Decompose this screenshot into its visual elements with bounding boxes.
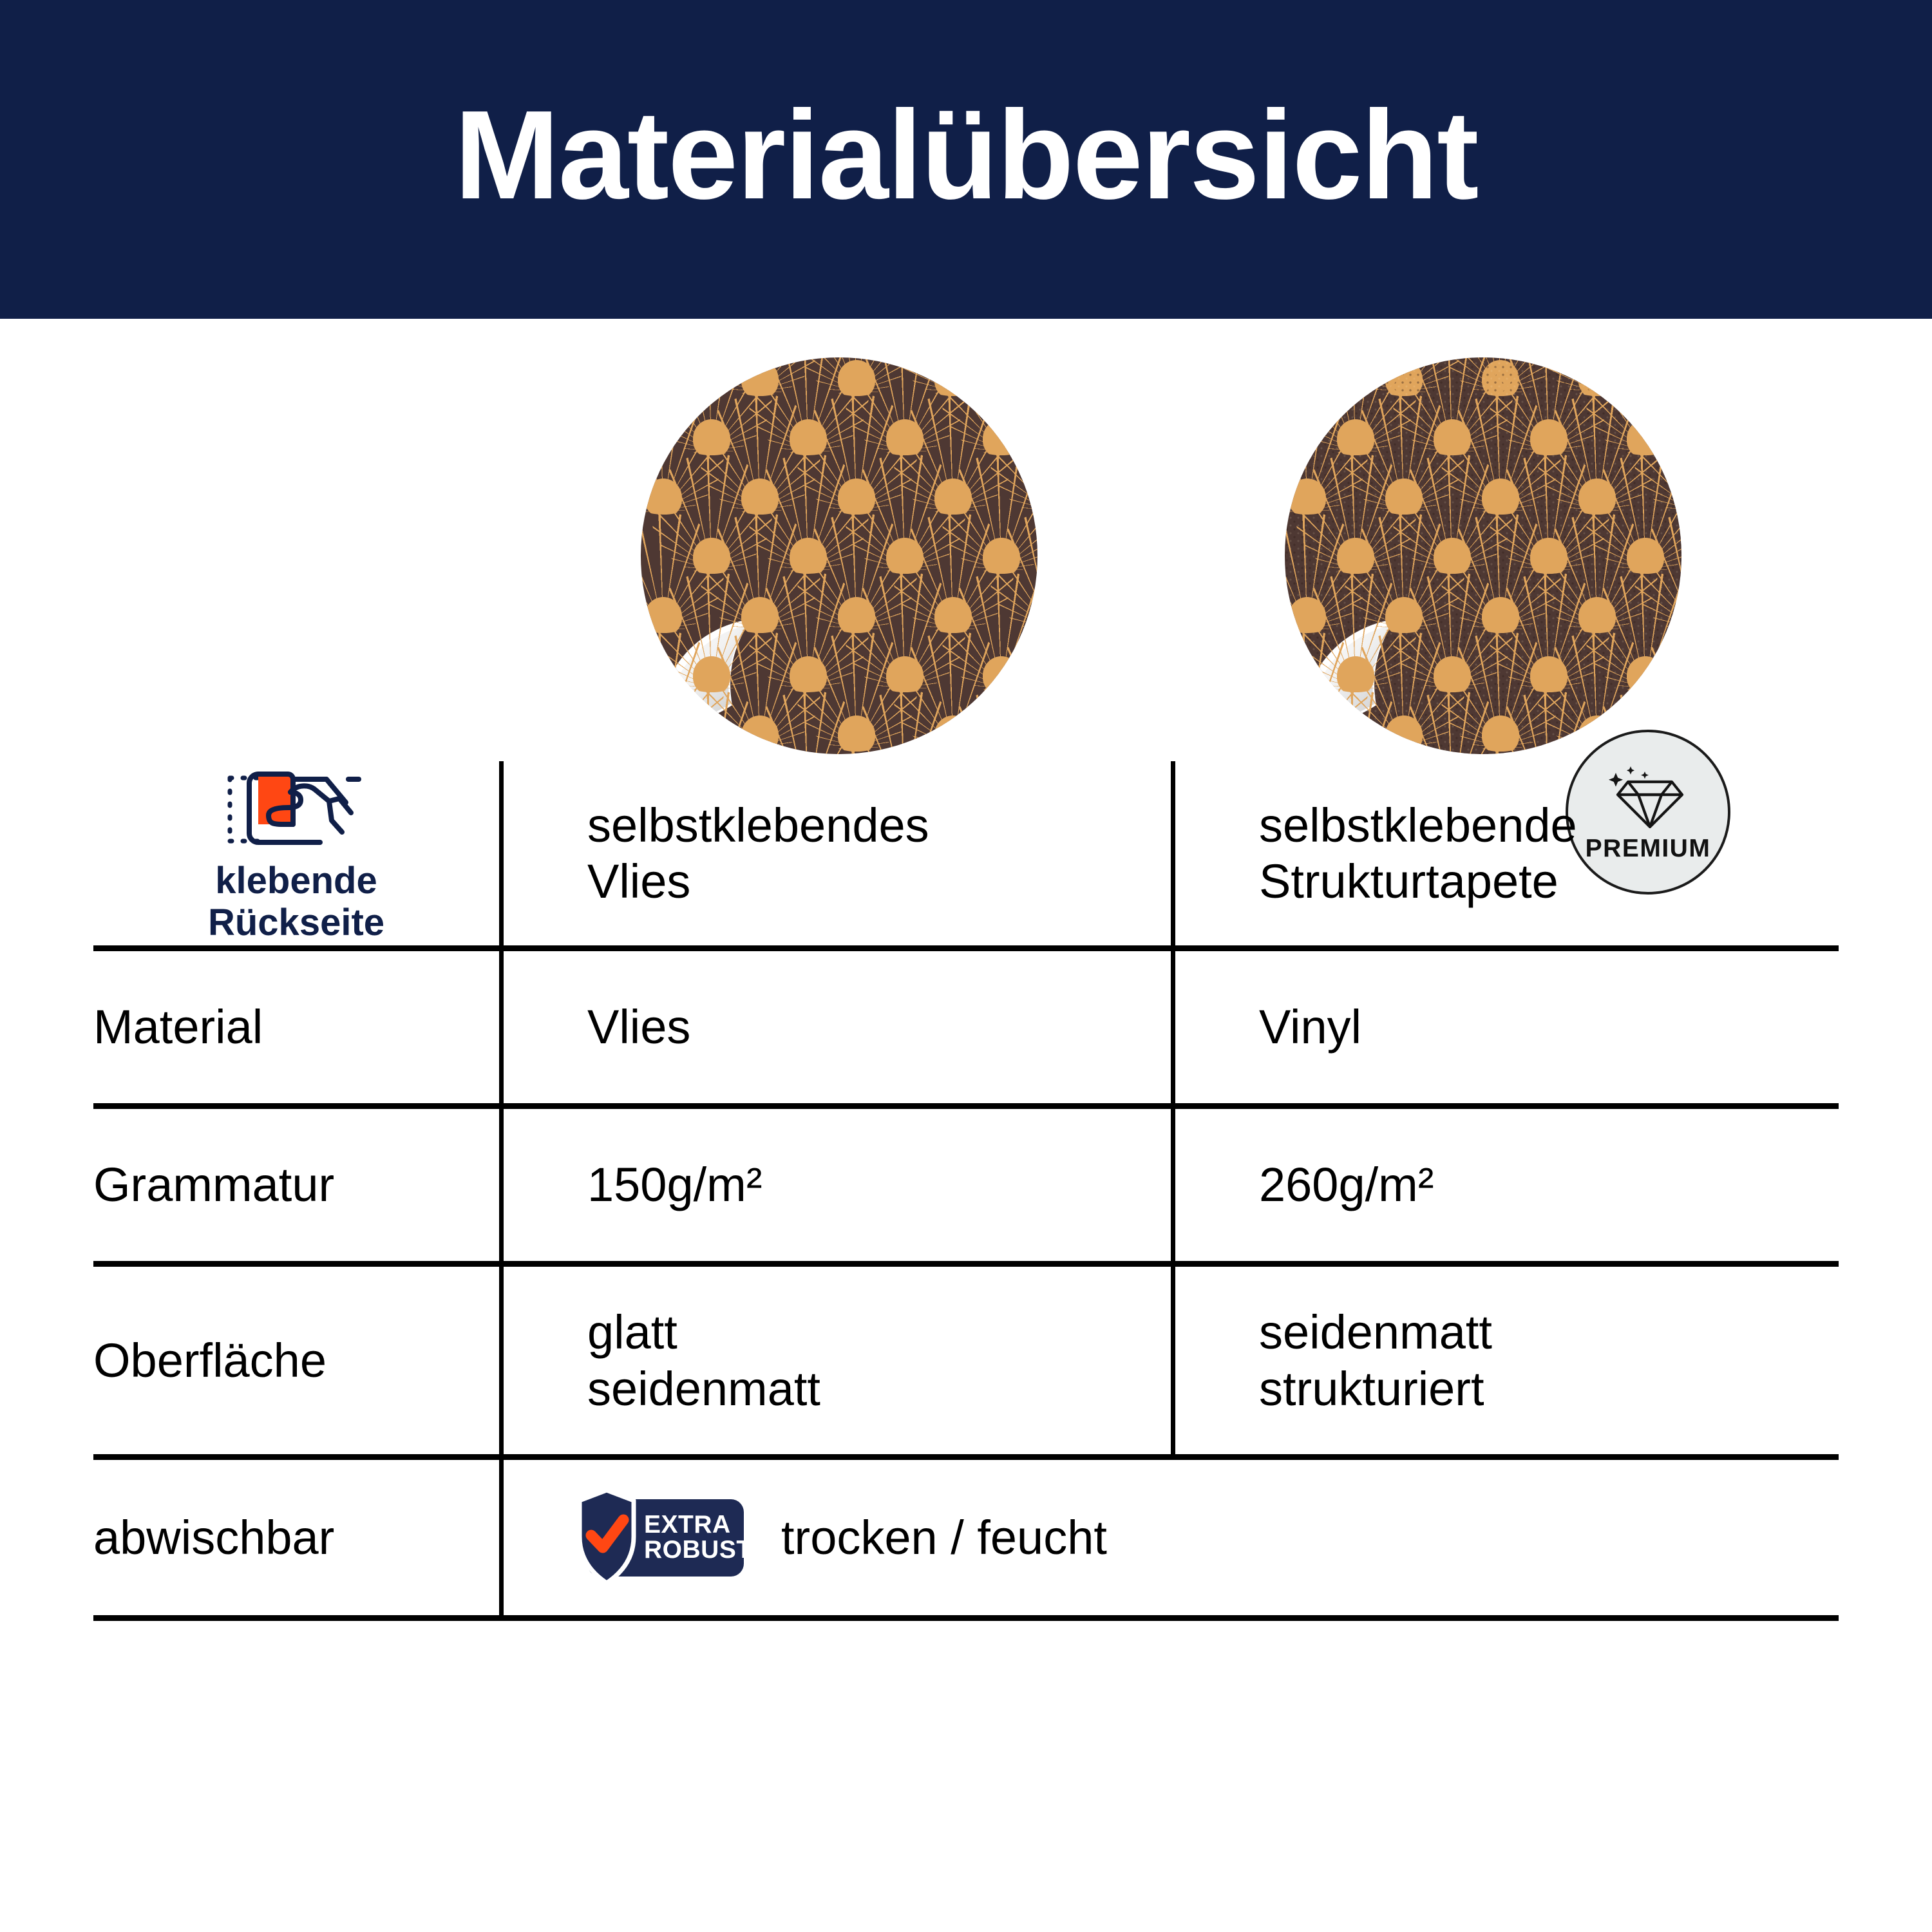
table-row-material: Material Vlies Vinyl bbox=[93, 951, 1839, 1109]
adhesive-label-line1: klebende bbox=[208, 860, 384, 902]
column-header-strukturtapete-line1: selbstklebende bbox=[1259, 797, 1577, 853]
peel-sticker-hand-icon bbox=[216, 762, 377, 853]
shield-check-icon bbox=[574, 1485, 639, 1589]
table-row-abwischbar: abwischbar EXTRA ROBUST trocken / feucht bbox=[93, 1460, 1839, 1621]
column-header-vlies: selbstklebendes Vlies bbox=[499, 761, 1171, 945]
swatch-vlies: PREMIUM bbox=[641, 357, 1037, 754]
swatch-vlies-disc bbox=[641, 357, 1037, 754]
extra-robust-line1: EXTRA bbox=[644, 1512, 752, 1538]
column-header-vlies-line2: Vlies bbox=[587, 853, 929, 909]
fan-pattern-textured bbox=[1285, 357, 1681, 754]
cell-oberflaeche-vlies-line2: seidenmatt bbox=[587, 1361, 820, 1417]
adhesive-block: klebende Rückseite bbox=[93, 762, 499, 944]
cell-oberflaeche-strukturtapete: seidenmatt strukturiert bbox=[1171, 1267, 1839, 1454]
cell-oberflaeche-vlies-line1: glatt bbox=[587, 1304, 820, 1360]
cell-oberflaeche-vlies: glatt seidenmatt bbox=[499, 1267, 1171, 1454]
swatch-strukturtapete-disc bbox=[1285, 357, 1681, 754]
row-label-grammatur: Grammatur bbox=[93, 1109, 499, 1261]
extra-robust-label: EXTRA ROBUST bbox=[644, 1512, 752, 1564]
fan-pattern-smooth bbox=[641, 357, 1037, 754]
column-header-vlies-line1: selbstklebendes bbox=[587, 797, 929, 853]
cell-grammatur-vlies: 150g/m² bbox=[499, 1109, 1171, 1261]
adhesive-label-line2: Rückseite bbox=[208, 902, 384, 944]
table-row-adhesive: klebende Rückseite selbstklebendes Vlies… bbox=[93, 761, 1839, 951]
cell-oberflaeche-strukturtapete-line1: seidenmatt bbox=[1259, 1304, 1492, 1360]
page-header: Materialübersicht bbox=[0, 0, 1932, 319]
row-label-abwischbar: abwischbar bbox=[93, 1460, 499, 1615]
row-label-oberflaeche: Oberfläche bbox=[93, 1267, 499, 1454]
page-title: Materialübersicht bbox=[455, 92, 1478, 218]
cell-oberflaeche-strukturtapete-line2: strukturiert bbox=[1259, 1361, 1492, 1417]
adhesive-cell: klebende Rückseite bbox=[93, 761, 499, 945]
material-overview-page: Materialübersicht bbox=[0, 0, 1932, 1932]
wipeable-value-text: trocken / feucht bbox=[781, 1510, 1107, 1566]
cell-grammatur-strukturtapete: 260g/m² bbox=[1171, 1109, 1839, 1261]
extra-robust-line2: ROBUST bbox=[644, 1538, 752, 1564]
row-label-material: Material bbox=[93, 951, 499, 1103]
column-header-strukturtapete: selbstklebende Strukturtapete bbox=[1171, 761, 1839, 945]
adhesive-label: klebende Rückseite bbox=[208, 860, 384, 944]
material-comparison-table: klebende Rückseite selbstklebendes Vlies… bbox=[93, 761, 1839, 1621]
column-header-strukturtapete-line2: Strukturtapete bbox=[1259, 853, 1577, 909]
extra-robust-badge: EXTRA ROBUST bbox=[587, 1499, 744, 1577]
swatch-strukturtapete: PREMIUM bbox=[1285, 357, 1681, 754]
cell-material-vlies: Vlies bbox=[499, 951, 1171, 1103]
table-row-grammatur: Grammatur 150g/m² 260g/m² bbox=[93, 1109, 1839, 1267]
cell-abwischbar-value: EXTRA ROBUST trocken / feucht bbox=[499, 1460, 1839, 1615]
table-row-oberflaeche: Oberfläche glatt seidenmatt seidenmatt s… bbox=[93, 1267, 1839, 1460]
cell-material-strukturtapete: Vinyl bbox=[1171, 951, 1839, 1103]
